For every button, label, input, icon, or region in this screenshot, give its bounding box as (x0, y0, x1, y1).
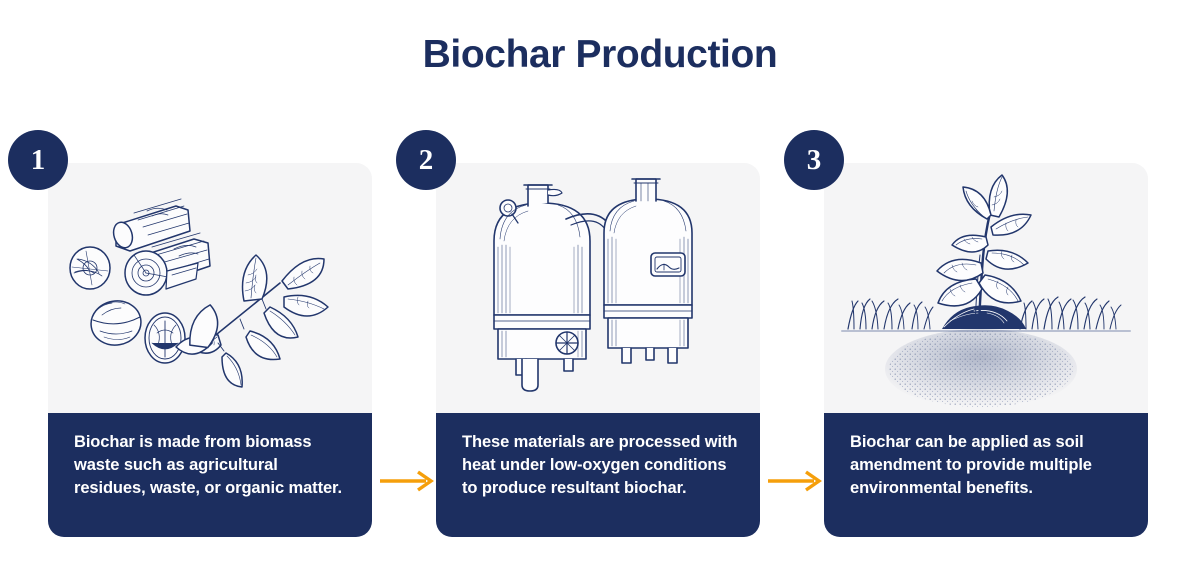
step-card-3: Biochar can be applied as soil amendment… (824, 130, 1148, 542)
step-number-badge-3: 3 (784, 130, 844, 190)
infographic-page: Biochar Production (0, 0, 1200, 586)
seedling-in-soil-icon (824, 163, 1148, 413)
step-number-badge-2: 2 (396, 130, 456, 190)
step-1-illustration (48, 163, 372, 413)
step-3-card-body: Biochar can be applied as soil amendment… (824, 163, 1148, 537)
connector-arrow-2 (766, 468, 824, 494)
pyrolysis-retort-vessels-icon (436, 163, 760, 413)
step-card-1: Biochar is made from biomass waste such … (48, 130, 372, 542)
step-3-illustration (824, 163, 1148, 413)
connector-arrow-1 (378, 468, 436, 494)
step-1-card-body: Biochar is made from biomass waste such … (48, 163, 372, 537)
steps-row: Biochar is made from biomass waste such … (0, 130, 1200, 550)
step-2-illustration (436, 163, 760, 413)
step-2-caption-text: These materials are processed with heat … (462, 431, 738, 499)
step-number-badge-1: 1 (8, 130, 68, 190)
logs-nuts-leaves-icon (48, 163, 372, 413)
page-title: Biochar Production (0, 34, 1200, 77)
step-3-caption: Biochar can be applied as soil amendment… (824, 413, 1148, 537)
biochar-stipple (885, 329, 1077, 409)
arrow-right-icon (378, 468, 436, 494)
step-2-card-body: These materials are processed with heat … (436, 163, 760, 537)
step-1-caption-text: Biochar is made from biomass waste such … (74, 431, 350, 499)
arrow-right-icon (766, 468, 824, 494)
step-1-caption: Biochar is made from biomass waste such … (48, 413, 372, 537)
step-2-caption: These materials are processed with heat … (436, 413, 760, 537)
step-card-2: These materials are processed with heat … (436, 130, 760, 542)
step-3-caption-text: Biochar can be applied as soil amendment… (850, 431, 1126, 499)
